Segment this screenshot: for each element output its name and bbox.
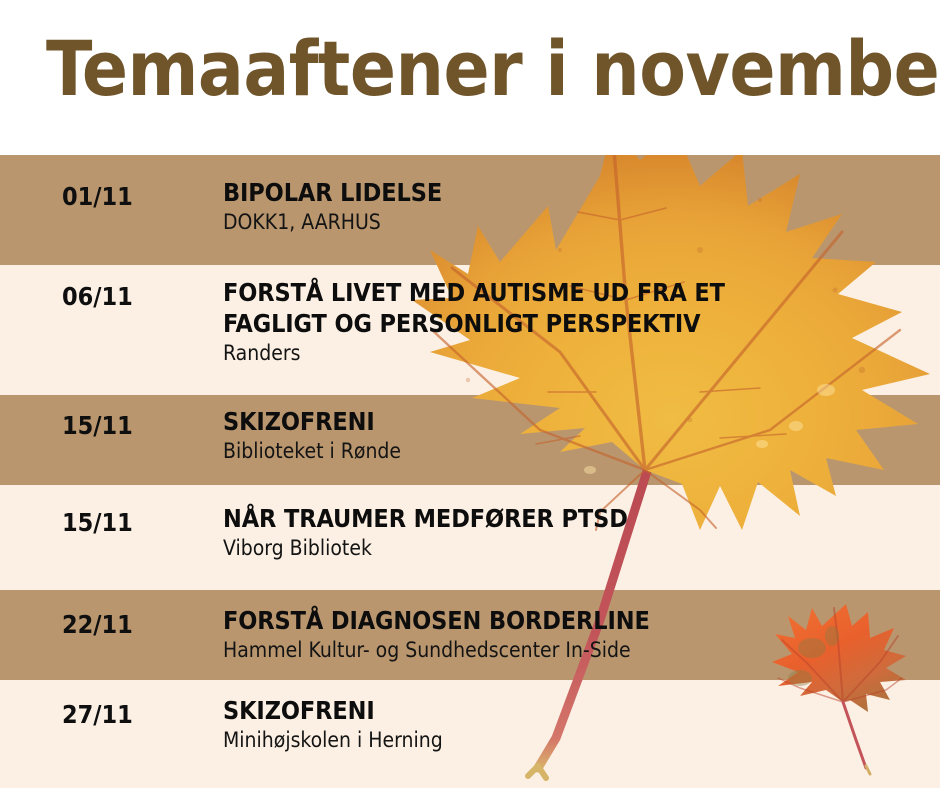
event-venue: Hammel Kultur- og Sundhedscenter In-Side bbox=[223, 637, 923, 663]
event-date: 15/11 bbox=[62, 411, 133, 440]
event-title: FORSTÅ LIVET MED AUTISME UD FRA ET FAGLI… bbox=[223, 277, 923, 339]
event-title: BIPOLAR LIDELSE bbox=[223, 177, 923, 208]
event-date: 27/11 bbox=[62, 700, 133, 729]
page-title: Temaaftener i november bbox=[46, 26, 902, 112]
event-details: BIPOLAR LIDELSEDOKK1, AARHUS bbox=[223, 177, 923, 235]
event-venue: DOKK1, AARHUS bbox=[223, 209, 923, 235]
event-details: SKIZOFRENIMinihøjskolen i Herning bbox=[223, 695, 923, 753]
poster-canvas: 01/11BIPOLAR LIDELSEDOKK1, AARHUS06/11FO… bbox=[0, 0, 940, 788]
event-venue: Minihøjskolen i Herning bbox=[223, 727, 923, 753]
event-venue: Viborg Bibliotek bbox=[223, 535, 923, 561]
event-date: 15/11 bbox=[62, 508, 133, 537]
event-venue: Randers bbox=[223, 340, 923, 366]
event-row[interactable]: 15/11NÅR TRAUMER MEDFØRER PTSDViborg Bib… bbox=[0, 485, 940, 590]
event-date: 01/11 bbox=[62, 182, 133, 211]
event-row[interactable]: 06/11FORSTÅ LIVET MED AUTISME UD FRA ET … bbox=[0, 265, 940, 395]
event-date: 22/11 bbox=[62, 610, 133, 639]
event-details: SKIZOFRENIBiblioteket i Rønde bbox=[223, 406, 923, 464]
event-details: NÅR TRAUMER MEDFØRER PTSDViborg Bibliote… bbox=[223, 503, 923, 561]
event-details: FORSTÅ DIAGNOSEN BORDERLINEHammel Kultur… bbox=[223, 605, 923, 663]
event-title: SKIZOFRENI bbox=[223, 695, 923, 726]
event-row[interactable]: 15/11SKIZOFRENIBiblioteket i Rønde bbox=[0, 395, 940, 485]
event-date: 06/11 bbox=[62, 282, 133, 311]
event-details: FORSTÅ LIVET MED AUTISME UD FRA ET FAGLI… bbox=[223, 277, 923, 366]
header-banner: Temaaftener i november bbox=[0, 0, 940, 155]
event-venue: Biblioteket i Rønde bbox=[223, 438, 923, 464]
event-title: FORSTÅ DIAGNOSEN BORDERLINE bbox=[223, 605, 923, 636]
event-row[interactable]: 22/11FORSTÅ DIAGNOSEN BORDERLINEHammel K… bbox=[0, 590, 940, 680]
event-row[interactable]: 27/11SKIZOFRENIMinihøjskolen i Herning bbox=[0, 680, 940, 788]
event-title: SKIZOFRENI bbox=[223, 406, 923, 437]
event-title: NÅR TRAUMER MEDFØRER PTSD bbox=[223, 503, 923, 534]
event-row[interactable]: 01/11BIPOLAR LIDELSEDOKK1, AARHUS bbox=[0, 155, 940, 265]
